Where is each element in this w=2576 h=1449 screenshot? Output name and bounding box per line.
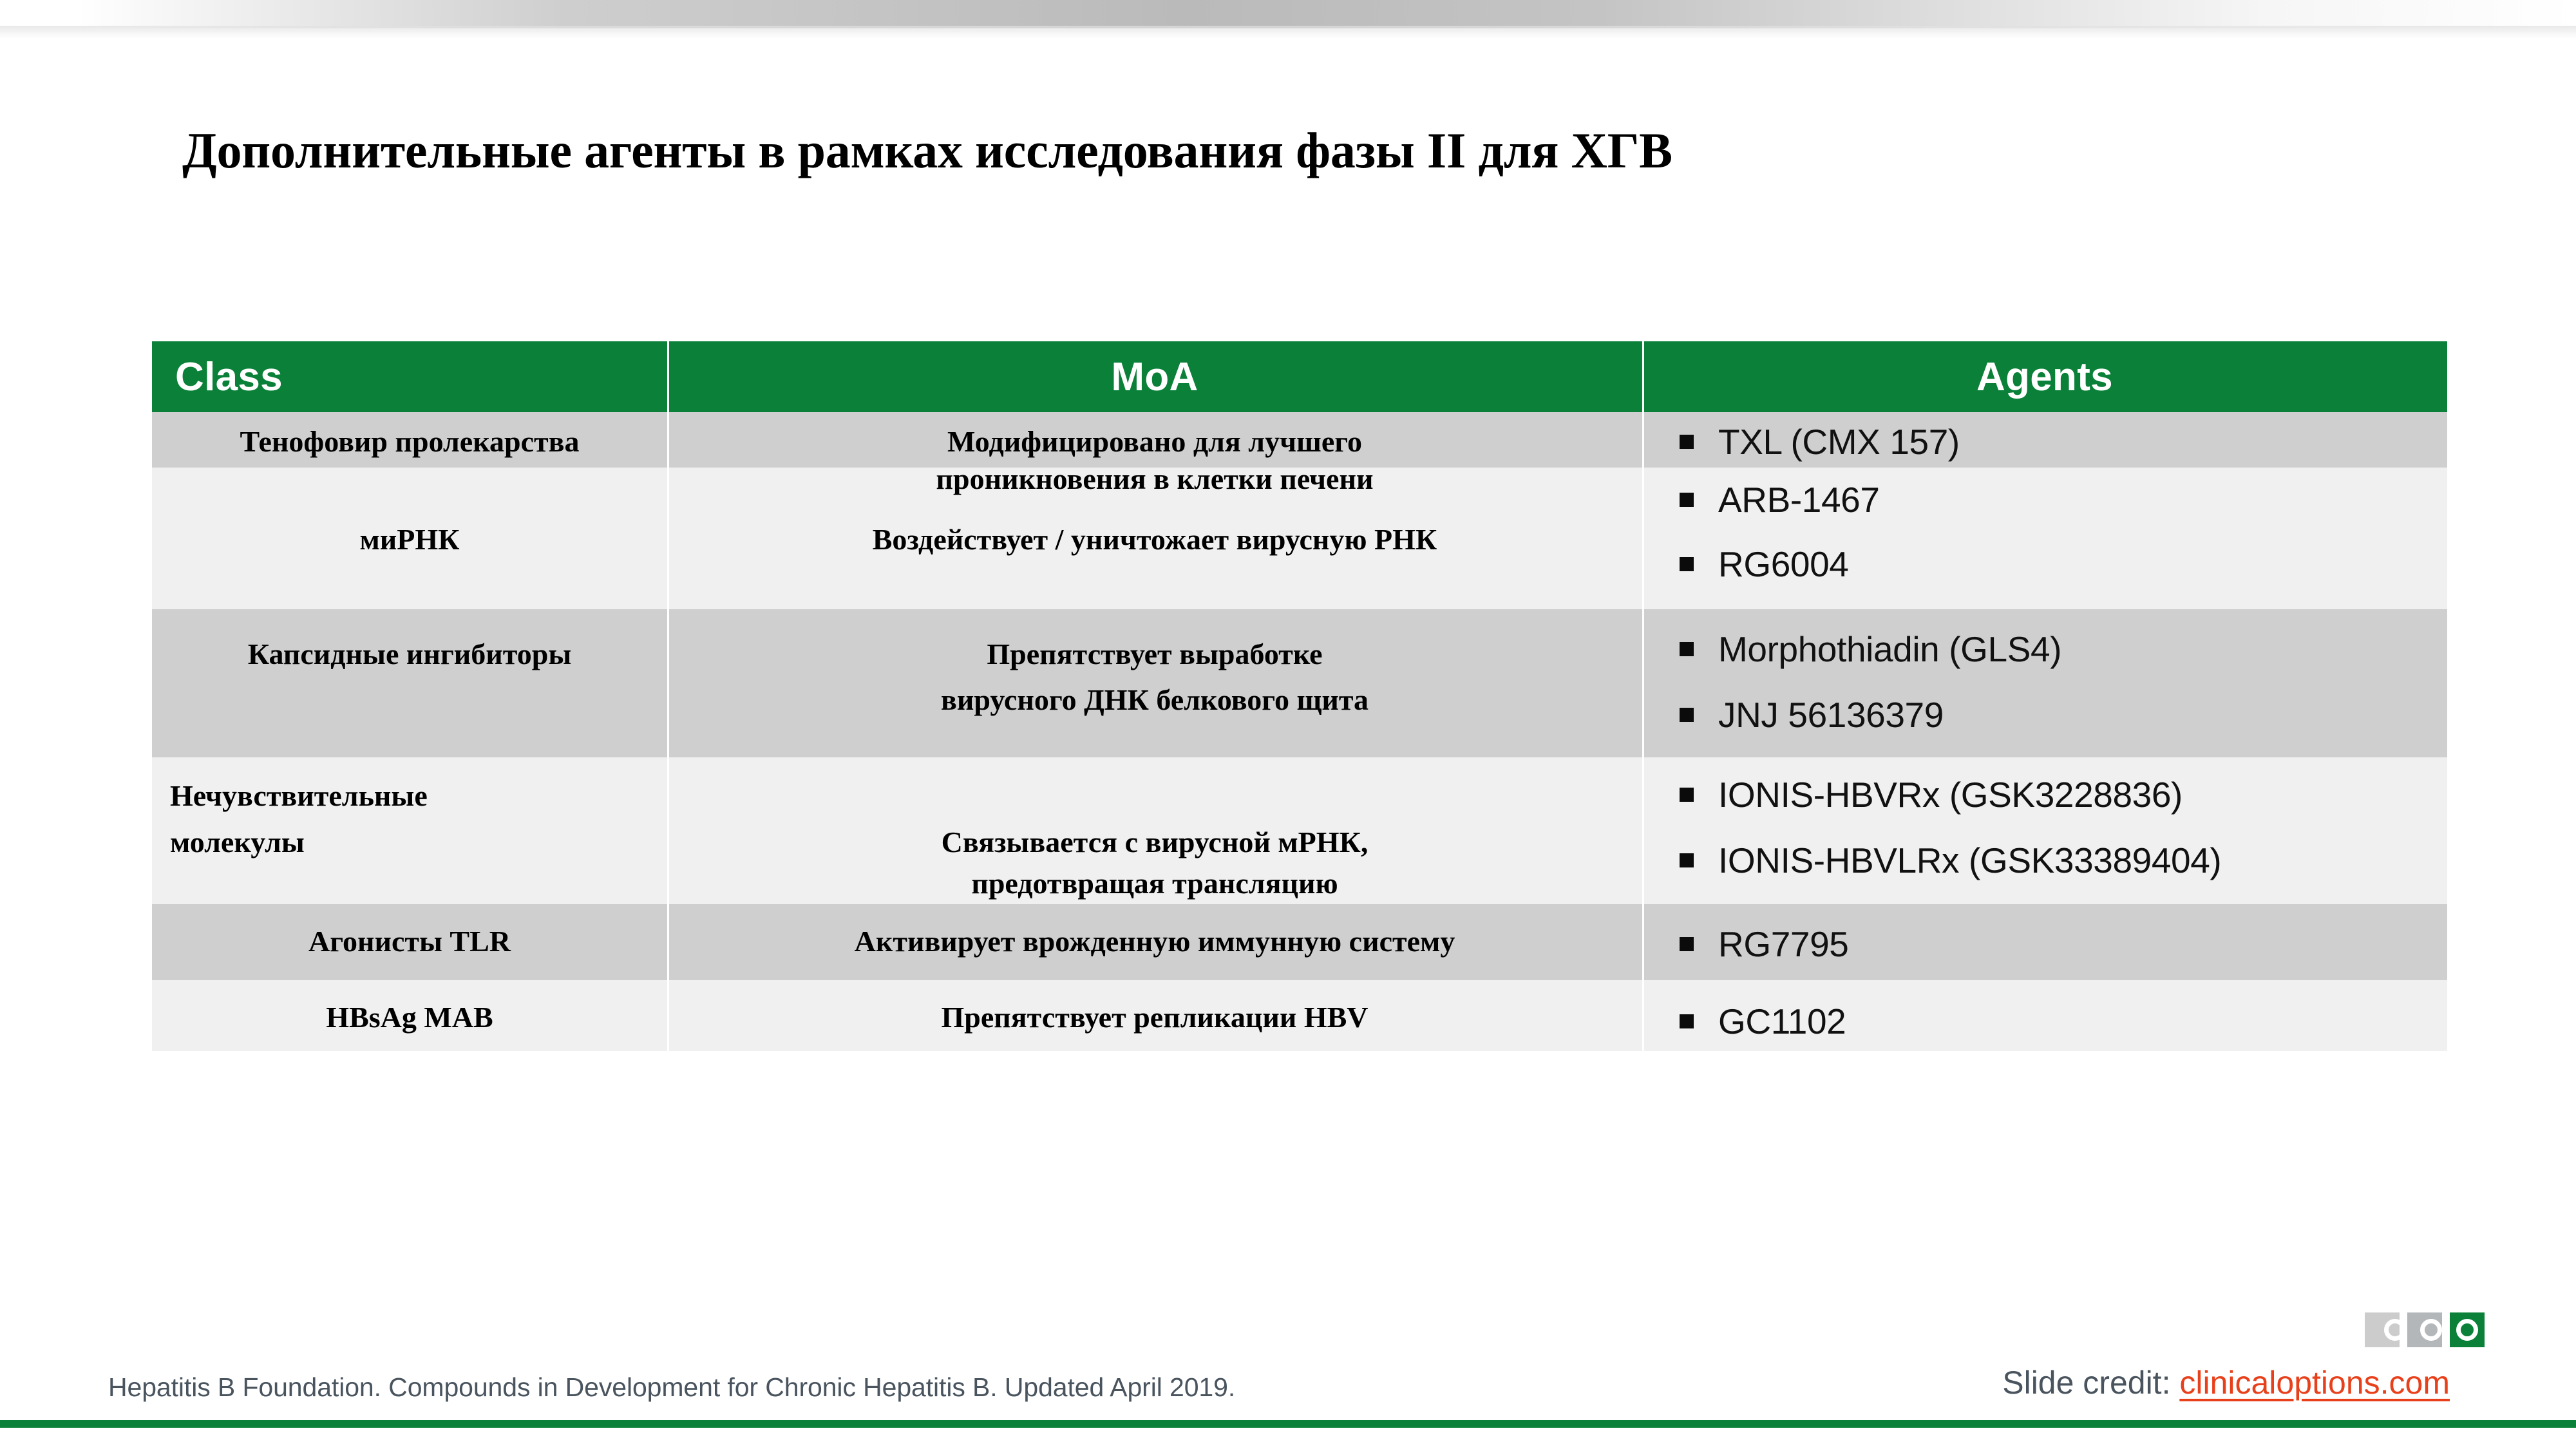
column-divider-2 bbox=[1642, 341, 1644, 1051]
moa-line-2: вирусного ДНК белкового щита bbox=[667, 682, 1642, 718]
class-label: HBsAg MAB bbox=[152, 999, 667, 1036]
column-header-moa: MoA bbox=[667, 341, 1642, 412]
cell-moa: Препятствует репликации HBV bbox=[667, 980, 1642, 1051]
moa-line-1: Активирует врожденную иммунную систему bbox=[667, 923, 1642, 960]
column-header-agents: Agents bbox=[1642, 341, 2447, 412]
class-label-line-2: молекулы bbox=[170, 824, 672, 860]
cell-moa: Модифицировано для лучшего проникновения… bbox=[667, 412, 1642, 468]
agent-item: ARB-1467 bbox=[1680, 479, 1880, 520]
page-title: Дополнительные агенты в рамках исследова… bbox=[182, 124, 2372, 177]
agent-label: Morphothiadin (GLS4) bbox=[1718, 629, 2061, 670]
cell-agents: Morphothiadin (GLS4) JNJ 56136379 bbox=[1642, 609, 2447, 757]
class-label: Тенофовир пролекарства bbox=[152, 424, 667, 460]
logo-square-light-icon bbox=[2365, 1312, 2400, 1347]
cell-agents: GC1102 bbox=[1642, 980, 2447, 1051]
logo-ring-icon bbox=[2384, 1319, 2400, 1341]
bullet-square-icon bbox=[1680, 708, 1694, 722]
bullet-square-icon bbox=[1680, 557, 1694, 571]
agent-label: JNJ 56136379 bbox=[1718, 694, 1944, 735]
table-row: Агонисты TLR Активирует врожденную иммун… bbox=[152, 904, 2447, 980]
clinical-options-logo bbox=[2365, 1312, 2485, 1347]
slide-credit-prefix: Slide credit: bbox=[2002, 1365, 2179, 1401]
agent-label: IONIS-HBVRx (GSK3228836) bbox=[1718, 774, 2183, 815]
source-citation: Hepatitis B Foundation. Compounds in Dev… bbox=[108, 1372, 1235, 1403]
table-row: Тенофовир пролекарства Модифицировано дл… bbox=[152, 412, 2447, 468]
moa-line-2: проникновения в клетки печени bbox=[667, 461, 1642, 497]
table-row: Капсидные ингибиторы Препятствует вырабо… bbox=[152, 609, 2447, 757]
cell-class: Капсидные ингибиторы bbox=[152, 609, 667, 757]
bullet-square-icon bbox=[1680, 937, 1694, 951]
moa-line-1: Препятствует выработке bbox=[667, 636, 1642, 672]
agent-label: RG7795 bbox=[1718, 923, 1848, 965]
cell-class: Агонисты TLR bbox=[152, 904, 667, 980]
slide-credit-link[interactable]: clinicaloptions.com bbox=[2179, 1365, 2450, 1401]
class-label-line-1: Нечувствительные bbox=[170, 778, 672, 814]
moa-line-1: Препятствует репликации HBV bbox=[667, 999, 1642, 1036]
cell-agents: RG7795 bbox=[1642, 904, 2447, 980]
agent-item: IONIS-HBVRx (GSK3228836) bbox=[1680, 774, 2183, 815]
agent-item: TXL (CMX 157) bbox=[1680, 421, 1960, 462]
agent-item: GC1102 bbox=[1680, 1001, 1846, 1042]
cell-moa: Связывается с вирусной мРНК, предотвраща… bbox=[667, 757, 1642, 904]
table-header-row: Class MoA Agents bbox=[152, 341, 2447, 412]
agents-table: Class MoA Agents Тенофовир пролекарства … bbox=[152, 341, 2447, 1051]
cell-agents: IONIS-HBVRx (GSK3228836) IONIS-HBVLRx (G… bbox=[1642, 757, 2447, 904]
column-header-class: Class bbox=[152, 341, 667, 412]
agent-item: Morphothiadin (GLS4) bbox=[1680, 629, 2061, 670]
slide-credit: Slide credit: clinicaloptions.com bbox=[2002, 1364, 2450, 1401]
bullet-square-icon bbox=[1680, 642, 1694, 656]
logo-ring-icon bbox=[2420, 1319, 2442, 1341]
agent-label: TXL (CMX 157) bbox=[1718, 421, 1960, 462]
agent-item: RG7795 bbox=[1680, 923, 1848, 965]
bullet-square-icon bbox=[1680, 493, 1694, 507]
agent-item: JNJ 56136379 bbox=[1680, 694, 1944, 735]
logo-square-medium-icon bbox=[2407, 1312, 2442, 1347]
logo-ring-icon bbox=[2456, 1319, 2478, 1341]
class-label: миРНК bbox=[152, 522, 667, 558]
cell-class: миРНК bbox=[152, 468, 667, 609]
cell-agents: TXL (CMX 157) bbox=[1642, 412, 2447, 468]
table-row: Нечувствительные молекулы Связывается с … bbox=[152, 757, 2447, 904]
slide-canvas: Дополнительные агенты в рамках исследова… bbox=[0, 0, 2576, 1449]
bottom-green-rule bbox=[0, 1420, 2576, 1428]
cell-class: HBsAg MAB bbox=[152, 980, 667, 1051]
bullet-square-icon bbox=[1680, 1014, 1694, 1028]
moa-line-2: предотвращая трансляцию bbox=[667, 866, 1642, 902]
moa-line-1: Связывается с вирусной мРНК, bbox=[667, 824, 1642, 860]
bullet-square-icon bbox=[1680, 853, 1694, 867]
cell-moa: Активирует врожденную иммунную систему bbox=[667, 904, 1642, 980]
cell-moa: Препятствует выработке вирусного ДНК бел… bbox=[667, 609, 1642, 757]
agent-label: ARB-1467 bbox=[1718, 479, 1880, 520]
moa-line-1: Воздействует / уничтожает вирусную РНК bbox=[667, 522, 1642, 558]
agent-item: IONIS-HBVLRx (GSK33389404) bbox=[1680, 840, 2221, 881]
agent-label: IONIS-HBVLRx (GSK33389404) bbox=[1718, 840, 2221, 881]
cell-class: Нечувствительные молекулы bbox=[152, 757, 667, 904]
top-gradient-fade bbox=[0, 26, 2576, 39]
agent-label: RG6004 bbox=[1718, 544, 1848, 585]
class-label: Капсидные ингибиторы bbox=[152, 636, 667, 672]
moa-line-1: Модифицировано для лучшего bbox=[667, 424, 1642, 460]
cell-agents: ARB-1467 RG6004 Vir-2218 bbox=[1642, 468, 2447, 609]
bullet-square-icon bbox=[1680, 435, 1694, 449]
table-row: HBsAg MAB Препятствует репликации HBV GC… bbox=[152, 980, 2447, 1051]
class-label: Агонисты TLR bbox=[152, 923, 667, 960]
agent-label: GC1102 bbox=[1718, 1001, 1846, 1042]
column-divider-1 bbox=[667, 341, 669, 1051]
agent-item: RG6004 bbox=[1680, 544, 1848, 585]
bullet-square-icon bbox=[1680, 788, 1694, 802]
logo-square-green-icon bbox=[2450, 1312, 2485, 1347]
top-gradient-band bbox=[0, 0, 2576, 28]
cell-class: Тенофовир пролекарства bbox=[152, 412, 667, 468]
